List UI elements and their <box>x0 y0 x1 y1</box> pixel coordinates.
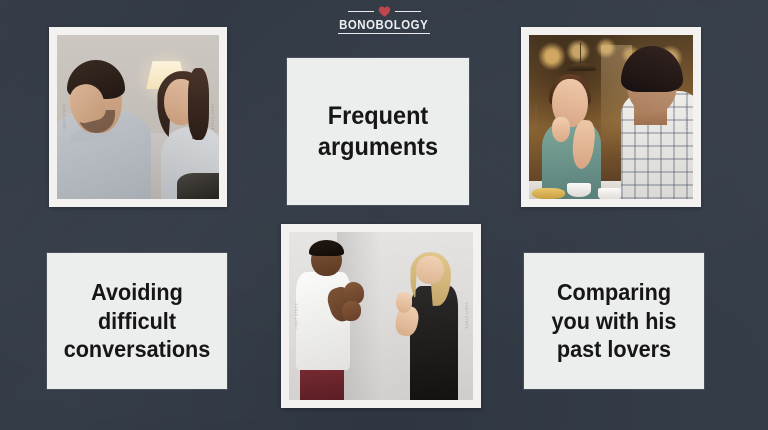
card-frequent-arguments-label: Frequent arguments <box>292 101 463 163</box>
cafe-plate <box>532 188 565 199</box>
card-avoiding-difficult-conversations-label: Avoiding difficult conversations <box>52 278 221 364</box>
argue-woman-head <box>416 256 444 285</box>
argue-man-hair <box>309 240 344 255</box>
card-avoiding-difficult-conversations: Avoiding difficult conversations <box>47 253 227 389</box>
photo-arguing-couple: LIGHT STOCK LIGHT STOCK <box>281 224 481 408</box>
cafe-cup-two <box>598 188 621 199</box>
woman-hair-strand <box>188 68 209 140</box>
cafe-woman-hand <box>552 117 570 142</box>
photo-bedroom-couple: LIGHT STOCK LIGHT STOCK <box>49 27 227 207</box>
heart-icon <box>378 6 391 17</box>
logo-rule-bottom <box>338 33 430 34</box>
argue-man-hand-lower <box>342 301 360 321</box>
logo-heart-rule-group <box>348 6 421 17</box>
logo-rule-left <box>348 11 374 13</box>
infographic-canvas: BONOBOLOGY LIGHT STOCK LIGHT STOCK <box>0 0 768 430</box>
logo-wordmark: BONOBOLOGY <box>339 18 428 31</box>
card-comparing-past-lovers-label: Comparing you with his past lovers <box>529 278 698 364</box>
photo-cafe-couple: LIGHT STOCK LIGHT STOCK <box>521 27 701 207</box>
photo-cafe-image <box>529 35 693 199</box>
photo-argument-image <box>289 232 473 400</box>
pendant-lamp-cord <box>580 43 581 63</box>
card-frequent-arguments: Frequent arguments <box>287 58 469 205</box>
photo-bedroom-image <box>57 35 219 199</box>
argue-woman-hand <box>396 292 413 312</box>
card-comparing-past-lovers: Comparing you with his past lovers <box>524 253 704 389</box>
logo-rule-right <box>395 11 421 13</box>
bedroom-foreground-shadow <box>177 173 219 199</box>
